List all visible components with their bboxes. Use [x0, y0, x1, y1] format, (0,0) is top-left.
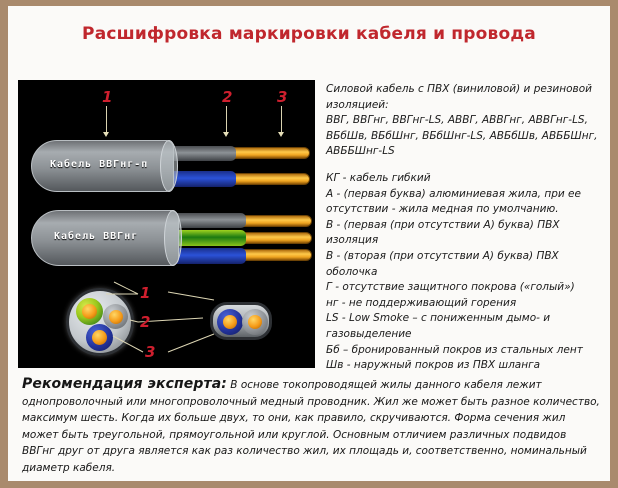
callout-leader-top-3	[281, 106, 282, 134]
legend-item-ng: нг - не поддерживающий горения	[326, 296, 610, 312]
legend-intro-line-1: Силовой кабель с ПВХ (виниловой) и резин…	[326, 82, 610, 113]
callout-number-top-1: 1	[102, 88, 112, 106]
expert-heading: Рекомендация эксперта:	[22, 376, 227, 392]
callout-number-bottom-1: 1	[140, 284, 150, 302]
callout-arrow-top-3	[278, 132, 284, 137]
cable-sheath-endcap	[160, 140, 178, 192]
cable-label-1: Кабель ВВГнг-п	[50, 159, 148, 170]
expert-body: В основе токопроводящей жилы данного каб…	[22, 379, 600, 474]
legend-item-v2: В - (вторая (при отсутствии А) буква) ПВ…	[326, 249, 610, 280]
expert-recommendation: Рекомендация эксперта: В основе токопров…	[22, 376, 600, 476]
legend-item-kg: КГ - кабель гибкий	[326, 171, 610, 187]
callout-arrow-top-1	[103, 132, 109, 137]
callout-leader-top-2	[226, 106, 227, 134]
poster-frame: Расшифровка маркировки кабеля и провода …	[0, 0, 618, 488]
callout-arrow-top-2	[223, 132, 229, 137]
legend-item-g: Г - отсутствие защитного покрова («голый…	[326, 280, 610, 296]
cable-flat-vvgng-p: Кабель ВВГнг-п	[18, 138, 315, 200]
legend-item-v1: В - (первая (при отсутствии А) буква) ПВ…	[326, 218, 610, 249]
callout-number-top-3: 3	[277, 88, 287, 106]
legend-item-shv: Шв - наружный покров из ПВХ шланга	[326, 358, 610, 374]
cable-label-2: Кабель ВВГнг	[54, 231, 138, 242]
poster-inner: Расшифровка маркировки кабеля и провода …	[8, 6, 610, 481]
cable-round-vvgng: Кабель ВВГнг	[18, 208, 315, 274]
callout-number-top-2: 2	[222, 88, 232, 106]
legend-intro-line-2: ВВГ, ВВГнг, ВВГнг-LS, АВВГ, АВВГнг, АВВГ…	[326, 113, 610, 160]
illustration-panel: 1 2 3 Кабель ВВГнг-п	[18, 80, 315, 368]
legend-intro: Силовой кабель с ПВХ (виниловой) и резин…	[326, 82, 610, 160]
page-title: Расшифровка маркировки кабеля и провода	[8, 24, 610, 44]
legend-column: Силовой кабель с ПВХ (виниловой) и резин…	[326, 82, 610, 374]
legend-item-bb: Бб – бронированный покров из стальных ле…	[326, 343, 610, 359]
callout-leader-top-1	[106, 106, 107, 134]
legend-item-ls: LS - Low Smoke – с пониженным дымо- и га…	[326, 311, 610, 342]
callout-number-bottom-2: 2	[140, 313, 150, 331]
cable-sheath-endcap-2	[164, 210, 182, 266]
legend-item-a: А - (первая буква) алюминиевая жила, при…	[326, 187, 610, 218]
legend-items: КГ - кабель гибкий А - (первая буква) ал…	[326, 171, 610, 374]
callout-leaders-bottom	[18, 276, 315, 368]
callout-number-bottom-3: 3	[145, 343, 155, 361]
